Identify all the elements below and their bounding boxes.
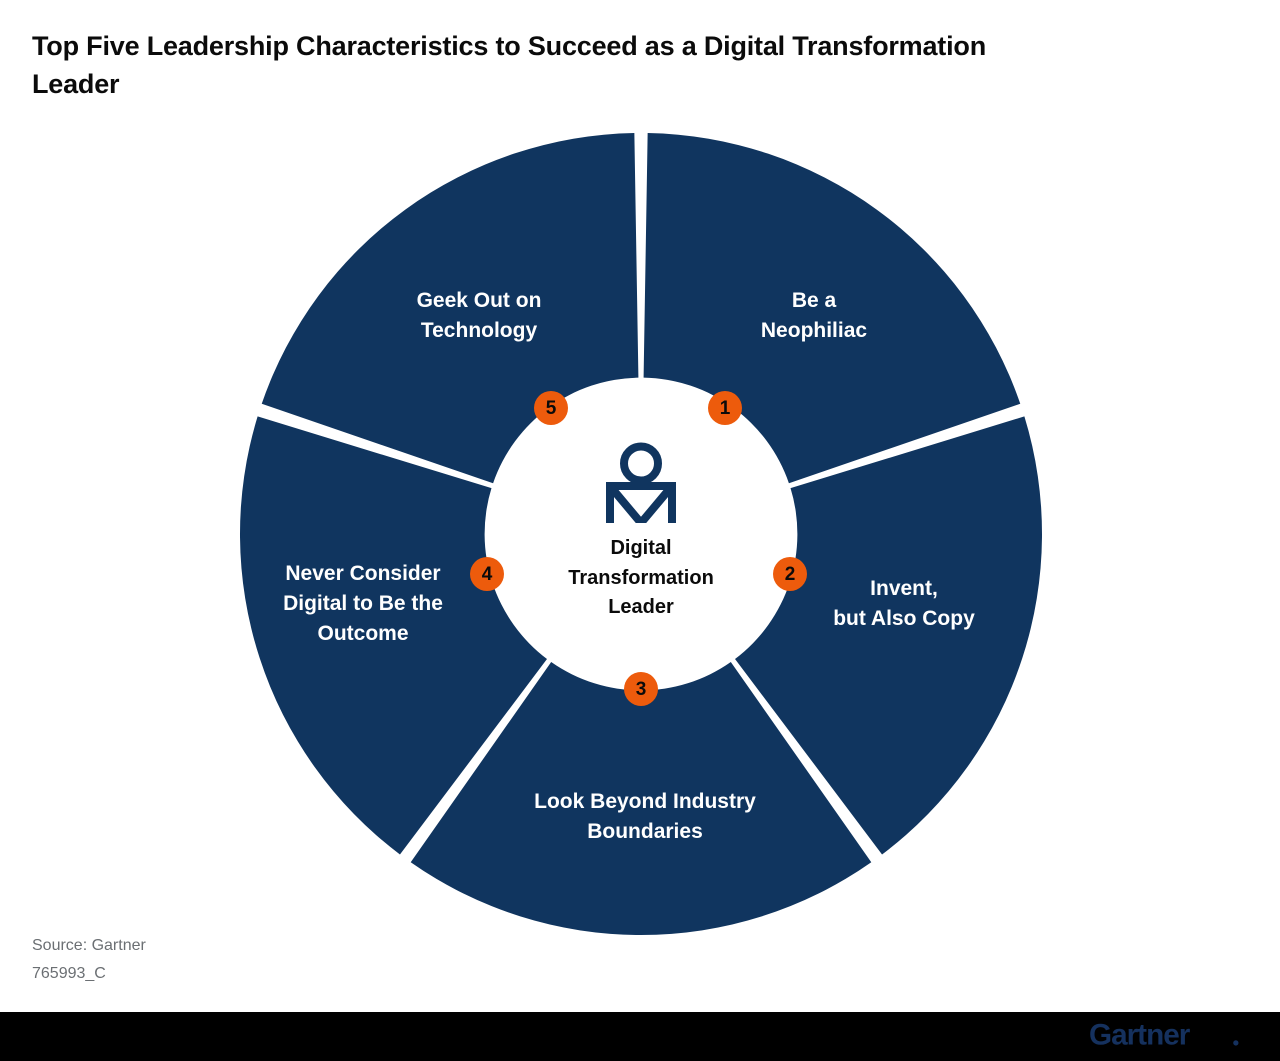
source-line: Source: Gartner xyxy=(32,932,146,960)
segment-label-2[interactable]: Invent, but Also Copy xyxy=(794,574,1014,634)
segment-label-1[interactable]: Be a Neophiliac xyxy=(714,286,914,346)
svg-text:Gartner: Gartner xyxy=(1089,1019,1191,1052)
segment-label-5[interactable]: Geek Out on Technology xyxy=(379,286,579,346)
donut-chart: Be a Neophiliac Invent, but Also Copy Lo… xyxy=(0,0,1280,1000)
person-icon xyxy=(597,441,685,523)
segment-label-4[interactable]: Never Consider Digital to Be the Outcome xyxy=(253,559,473,648)
segment-label-3[interactable]: Look Beyond Industry Boundaries xyxy=(485,787,805,847)
segment-badge-5[interactable]: 5 xyxy=(534,391,568,425)
footer-bar xyxy=(0,1012,1280,1061)
gartner-logo: Gartner xyxy=(1089,1019,1254,1052)
chart-id: 765993_C xyxy=(32,960,146,988)
segment-badge-4[interactable]: 4 xyxy=(470,557,504,591)
segment-badge-1[interactable]: 1 xyxy=(708,391,742,425)
segment-badge-2[interactable]: 2 xyxy=(773,557,807,591)
segment-badge-3[interactable]: 3 xyxy=(624,672,658,706)
hub-label: Digital Transformation Leader xyxy=(521,534,761,623)
source-block: Source: Gartner 765993_C xyxy=(32,932,146,987)
